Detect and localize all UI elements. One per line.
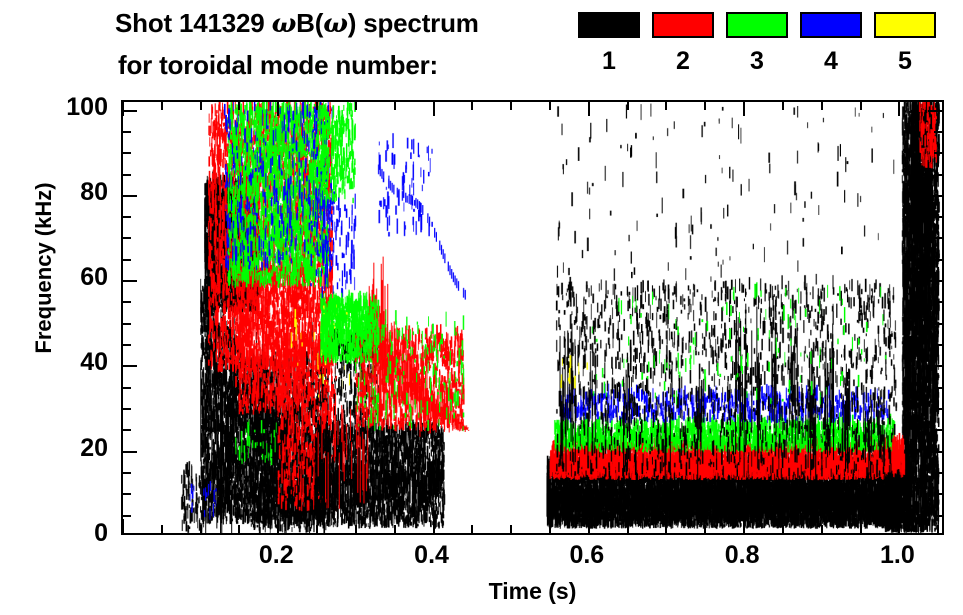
y-tick-left-25 bbox=[123, 429, 131, 431]
x-tick-bottom-0.00 bbox=[122, 519, 124, 533]
x-tick-top-0.15 bbox=[238, 102, 240, 110]
x-tick-top-0.95 bbox=[860, 102, 862, 110]
x-tick-bottom-0.95 bbox=[860, 525, 862, 533]
y-tick-left-30 bbox=[123, 408, 131, 410]
y-tick-right-25 bbox=[934, 429, 942, 431]
y-tick-left-95 bbox=[123, 131, 131, 133]
legend-swatch-mode-n2 bbox=[652, 12, 714, 38]
y-tick-right-70 bbox=[934, 237, 942, 239]
legend-entry-mode-n5[interactable]: 5 bbox=[874, 12, 936, 74]
legend-entry-mode-n4[interactable]: 4 bbox=[800, 12, 862, 74]
x-tick-top-0.25 bbox=[316, 102, 318, 110]
x-tick-top-0.45 bbox=[471, 102, 473, 110]
x-tick-bottom-0.40 bbox=[433, 519, 435, 533]
x-tick-label-0.2: 0.2 bbox=[231, 541, 321, 570]
y-tick-left-100 bbox=[123, 110, 137, 112]
y-tick-left-85 bbox=[123, 174, 131, 176]
y-tick-left-50 bbox=[123, 323, 131, 325]
y-tick-left-10 bbox=[123, 493, 131, 495]
y-tick-right-30 bbox=[934, 408, 942, 410]
plot-area[interactable] bbox=[121, 100, 944, 535]
x-tick-top-0.40 bbox=[433, 102, 435, 116]
y-tick-left-55 bbox=[123, 301, 131, 303]
x-tick-bottom-0.75 bbox=[704, 525, 706, 533]
y-tick-right-55 bbox=[934, 301, 942, 303]
y-tick-left-5 bbox=[123, 515, 131, 517]
y-tick-label-100: 100 bbox=[24, 93, 108, 122]
y-tick-right-35 bbox=[934, 387, 942, 389]
y-tick-left-20 bbox=[123, 451, 137, 453]
y-tick-right-20 bbox=[928, 451, 942, 453]
y-tick-right-85 bbox=[934, 174, 942, 176]
y-tick-right-45 bbox=[934, 344, 942, 346]
x-tick-label-0.4: 0.4 bbox=[387, 541, 477, 570]
x-axis-label: Time (s) bbox=[121, 578, 944, 605]
x-tick-bottom-0.50 bbox=[510, 525, 512, 533]
y-tick-left-40 bbox=[123, 365, 137, 367]
x-tick-bottom-0.30 bbox=[355, 525, 357, 533]
x-tick-bottom-0.20 bbox=[277, 519, 279, 533]
y-tick-right-40 bbox=[928, 365, 942, 367]
x-tick-top-0.05 bbox=[161, 102, 163, 110]
x-tick-top-0.20 bbox=[277, 102, 279, 116]
legend-swatch-mode-n3 bbox=[726, 12, 788, 38]
x-tick-top-1.00 bbox=[898, 102, 900, 116]
legend-label-mode-n4: 4 bbox=[800, 48, 862, 74]
x-tick-top-0.75 bbox=[704, 102, 706, 110]
legend-swatch-mode-n5 bbox=[874, 12, 936, 38]
legend-entry-mode-n2[interactable]: 2 bbox=[652, 12, 714, 74]
y-tick-right-65 bbox=[934, 259, 942, 261]
y-tick-right-80 bbox=[928, 195, 942, 197]
y-tick-left-35 bbox=[123, 387, 131, 389]
legend-label-mode-n3: 3 bbox=[726, 48, 788, 74]
x-tick-bottom-0.85 bbox=[782, 525, 784, 533]
y-tick-left-80 bbox=[123, 195, 137, 197]
y-tick-left-70 bbox=[123, 237, 131, 239]
omega-symbol-2: ω bbox=[323, 9, 348, 39]
x-tick-top-0.70 bbox=[665, 102, 667, 110]
x-tick-top-0.10 bbox=[200, 102, 202, 110]
x-tick-bottom-0.90 bbox=[821, 525, 823, 533]
y-tick-right-75 bbox=[934, 216, 942, 218]
x-tick-top-0.55 bbox=[549, 102, 551, 110]
y-tick-left-75 bbox=[123, 216, 131, 218]
title-b-open: B( bbox=[296, 8, 323, 38]
x-tick-top-0.30 bbox=[355, 102, 357, 110]
x-tick-bottom-0.65 bbox=[627, 525, 629, 533]
y-tick-right-10 bbox=[934, 493, 942, 495]
x-tick-bottom-0.05 bbox=[161, 525, 163, 533]
x-tick-bottom-1.00 bbox=[898, 519, 900, 533]
title-shot-text: Shot 141329 bbox=[115, 8, 272, 38]
x-tick-bottom-0.70 bbox=[665, 525, 667, 533]
y-tick-left-65 bbox=[123, 259, 131, 261]
x-tick-top-0.90 bbox=[821, 102, 823, 110]
x-tick-top-0.65 bbox=[627, 102, 629, 110]
chart-title-line-2: for toroidal mode number: bbox=[118, 50, 438, 81]
x-tick-top-0.85 bbox=[782, 102, 784, 110]
y-tick-left-15 bbox=[123, 472, 131, 474]
x-tick-bottom-1.05 bbox=[937, 525, 939, 533]
spectrogram-canvas bbox=[123, 102, 942, 533]
legend-swatch-mode-n1 bbox=[578, 12, 640, 38]
x-tick-bottom-0.10 bbox=[200, 525, 202, 533]
y-tick-label-20: 20 bbox=[24, 434, 108, 463]
y-tick-right-100 bbox=[928, 110, 942, 112]
legend-label-mode-n2: 2 bbox=[652, 48, 714, 74]
y-tick-label-80: 80 bbox=[24, 178, 108, 207]
x-tick-top-0.80 bbox=[743, 102, 745, 116]
legend: 12345 bbox=[578, 12, 946, 84]
x-tick-bottom-0.35 bbox=[394, 525, 396, 533]
x-tick-bottom-0.55 bbox=[549, 525, 551, 533]
spectrogram-figure: Shot 141329 ωB(ω) spectrum for toroidal … bbox=[0, 0, 963, 615]
legend-label-mode-n5: 5 bbox=[874, 48, 936, 74]
legend-swatch-mode-n4 bbox=[800, 12, 862, 38]
legend-entry-mode-n1[interactable]: 1 bbox=[578, 12, 640, 74]
y-tick-label-40: 40 bbox=[24, 348, 108, 377]
x-tick-bottom-0.80 bbox=[743, 519, 745, 533]
x-tick-bottom-0.25 bbox=[316, 525, 318, 533]
x-tick-label-1.0: 1.0 bbox=[852, 541, 942, 570]
y-tick-left-90 bbox=[123, 152, 131, 154]
x-tick-top-0.50 bbox=[510, 102, 512, 110]
y-tick-left-60 bbox=[123, 280, 137, 282]
legend-entry-mode-n3[interactable]: 3 bbox=[726, 12, 788, 74]
y-tick-left-45 bbox=[123, 344, 131, 346]
x-tick-top-0.35 bbox=[394, 102, 396, 110]
y-tick-right-50 bbox=[934, 323, 942, 325]
x-tick-bottom-0.60 bbox=[588, 519, 590, 533]
y-tick-right-5 bbox=[934, 515, 942, 517]
title-spectrum-text: ) spectrum bbox=[348, 8, 479, 38]
x-tick-label-0.8: 0.8 bbox=[697, 541, 787, 570]
omega-symbol-1: ω bbox=[272, 9, 297, 39]
y-tick-label-60: 60 bbox=[24, 263, 108, 292]
x-tick-top-0.60 bbox=[588, 102, 590, 116]
x-tick-label-0.6: 0.6 bbox=[542, 541, 632, 570]
y-tick-right-15 bbox=[934, 472, 942, 474]
legend-label-mode-n1: 1 bbox=[578, 48, 640, 74]
chart-title-line-1: Shot 141329 ωB(ω) spectrum bbox=[115, 8, 479, 39]
x-tick-bottom-0.15 bbox=[238, 525, 240, 533]
y-tick-right-90 bbox=[934, 152, 942, 154]
y-tick-right-95 bbox=[934, 131, 942, 133]
y-tick-right-60 bbox=[928, 280, 942, 282]
y-tick-label-0: 0 bbox=[24, 519, 108, 548]
x-tick-bottom-0.45 bbox=[471, 525, 473, 533]
